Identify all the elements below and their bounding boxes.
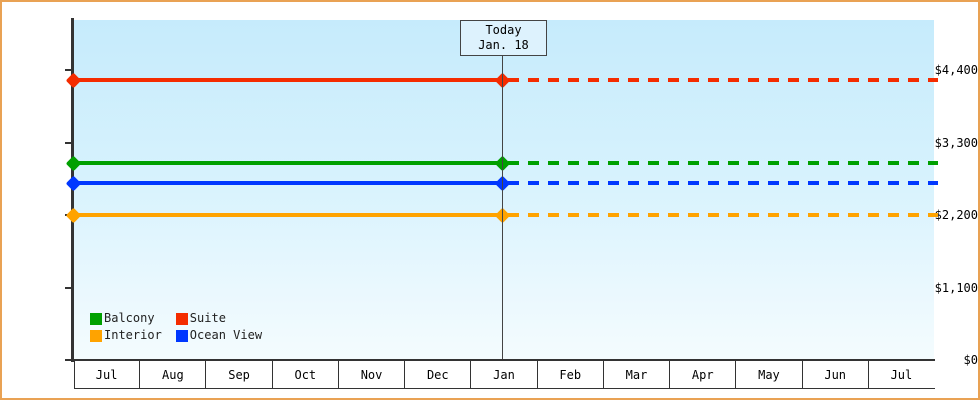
x-tick-nov[interactable]: Nov — [339, 361, 405, 389]
y-label-1100: $1,100 — [916, 282, 978, 294]
x-tick-may[interactable]: May — [736, 361, 802, 389]
x-tick-oct[interactable]: Oct — [273, 361, 339, 389]
x-tick-jul-1[interactable]: Jul — [74, 361, 140, 389]
x-tick-apr[interactable]: Apr — [670, 361, 736, 389]
chart-page: $4,400 $3,300 $2,200 $1,100 $0 Today Jan… — [0, 0, 980, 400]
series-line-balcony-future — [508, 161, 938, 165]
series-line-interior-past — [74, 213, 502, 217]
today-callout: Today Jan. 18 — [460, 20, 547, 56]
legend-label-suite: Suite — [190, 312, 226, 325]
x-tick-aug[interactable]: Aug — [140, 361, 206, 389]
series-line-ocean-view-past — [74, 181, 502, 185]
y-label-3300: $3,300 — [916, 137, 978, 149]
x-tick-jun[interactable]: Jun — [803, 361, 869, 389]
plot-area — [74, 20, 934, 360]
legend-swatch-balcony — [90, 313, 102, 325]
x-tick-sep[interactable]: Sep — [206, 361, 272, 389]
legend-item-interior[interactable]: Interior — [90, 329, 162, 342]
legend-swatch-suite — [176, 313, 188, 325]
x-tick-jan[interactable]: Jan — [471, 361, 537, 389]
series-line-ocean-view-future — [508, 181, 938, 185]
y-tick-3300 — [65, 142, 74, 144]
series-line-suite-future — [508, 78, 938, 82]
y-label-4400: $4,400 — [916, 64, 978, 76]
legend: Balcony Suite Interior Ocean View — [90, 312, 262, 342]
legend-label-interior: Interior — [104, 329, 162, 342]
today-vertical-line — [502, 46, 503, 360]
legend-label-balcony: Balcony — [104, 312, 155, 325]
today-callout-line2: Jan. 18 — [478, 38, 529, 53]
series-line-interior-future — [508, 213, 938, 217]
legend-swatch-interior — [90, 330, 102, 342]
legend-item-suite[interactable]: Suite — [176, 312, 262, 325]
x-axis-bottom-edge — [74, 388, 935, 389]
y-tick-1100 — [65, 287, 74, 289]
x-tick-feb[interactable]: Feb — [538, 361, 604, 389]
today-callout-line1: Today — [485, 23, 521, 38]
legend-item-balcony[interactable]: Balcony — [90, 312, 162, 325]
x-axis-month-cells: Jul Aug Sep Oct Nov Dec Jan Feb Mar Apr … — [74, 361, 934, 389]
x-tick-dec[interactable]: Dec — [405, 361, 471, 389]
legend-item-ocean-view[interactable]: Ocean View — [176, 329, 262, 342]
series-line-suite-past — [74, 78, 502, 82]
y-tick-4400 — [65, 69, 74, 71]
x-tick-mar[interactable]: Mar — [604, 361, 670, 389]
x-tick-jul-2[interactable]: Jul — [869, 361, 934, 389]
legend-swatch-ocean-view — [176, 330, 188, 342]
legend-label-ocean-view: Ocean View — [190, 329, 262, 342]
series-line-balcony-past — [74, 161, 502, 165]
